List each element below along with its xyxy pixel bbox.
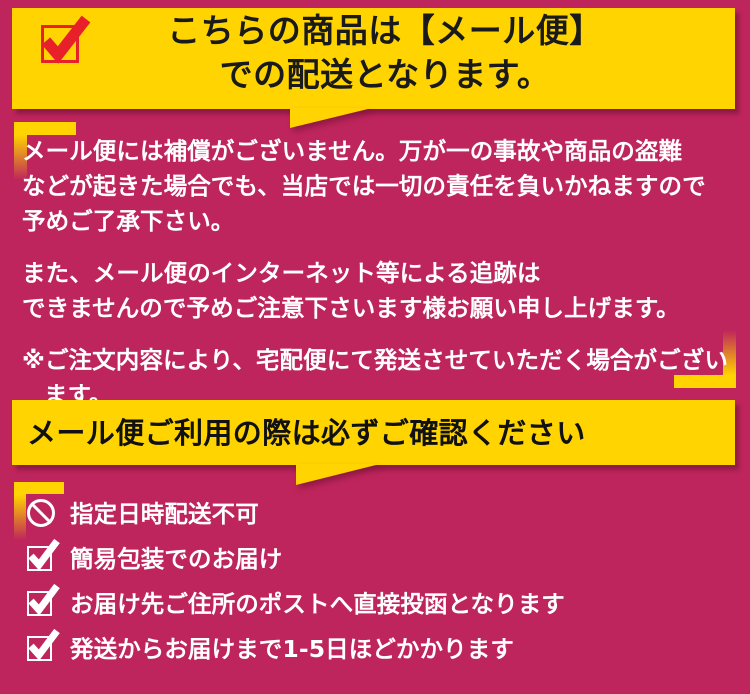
paragraph-line: ※ご注文内容により、宅配便にて発送させていただく場合がござい	[22, 343, 734, 378]
disclaimer-text: メール便には補償がございません。万が一の事故や商品の盗難 などが起きた場合でも、…	[22, 134, 734, 413]
header-bubble-tail	[290, 108, 372, 128]
checkbox-checked-icon	[26, 543, 58, 575]
list-item-label: 発送からお届けまで1-5日ほどかかります	[70, 633, 514, 665]
checkbox-checked-icon	[41, 25, 85, 69]
bracket-vertical	[14, 482, 26, 540]
paragraph-line: メール便には補償がございません。万が一の事故や商品の盗難	[22, 134, 734, 169]
paragraph-line: 予めご了承下さい。	[22, 204, 734, 239]
notice-bubble-tail	[296, 464, 380, 485]
list-item: 簡易包装でのお届け	[26, 537, 736, 580]
list-item-label: 簡易包装でのお届け	[70, 543, 282, 575]
list-item-label: お届け先ご住所のポストへ直接投函となります	[70, 588, 565, 620]
prohibited-circle	[27, 499, 55, 527]
checkbox-checked-icon	[26, 633, 58, 665]
paragraph-line: また、メール便のインターネット等による追跡は	[22, 256, 734, 291]
header-title-line-1: こちらの商品は【メール便】	[105, 9, 665, 53]
paragraph-line: などが起きた場合でも、当店では一切の責任を負いかねますので	[22, 169, 734, 204]
disclaimer-paragraph-1: メール便には補償がございません。万が一の事故や商品の盗難 などが起きた場合でも、…	[22, 134, 734, 239]
list-item: お届け先ご住所のポストへ直接投函となります	[26, 582, 736, 625]
notice-banner-heading: メール便ご利用の際は必ずご確認ください	[27, 408, 586, 458]
list-item: 発送からお届けまで1-5日ほどかかります	[26, 627, 736, 670]
checkbox-checked-icon	[26, 588, 58, 620]
mail-shipping-notice-banner: こちらの商品は【メール便】 での配送となります。 メール便には補償がございません…	[0, 0, 750, 694]
disclaimer-paragraph-2: また、メール便のインターネット等による追跡は できませんので予めご注意下さいます…	[22, 256, 734, 326]
list-item: 指定日時配送不可	[26, 492, 736, 535]
page-title: こちらの商品は【メール便】 での配送となります。	[105, 9, 665, 97]
prohibited-icon	[26, 498, 58, 530]
list-item-label: 指定日時配送不可	[70, 498, 259, 530]
shipping-conditions-checklist: 指定日時配送不可 簡易包装でのお届け お届け先ご住所のポストへ直接投函となります	[26, 492, 736, 672]
header-title-line-2: での配送となります。	[105, 53, 665, 97]
paragraph-line: できませんので予めご注意下さいます様お願い申し上げます。	[22, 291, 734, 326]
